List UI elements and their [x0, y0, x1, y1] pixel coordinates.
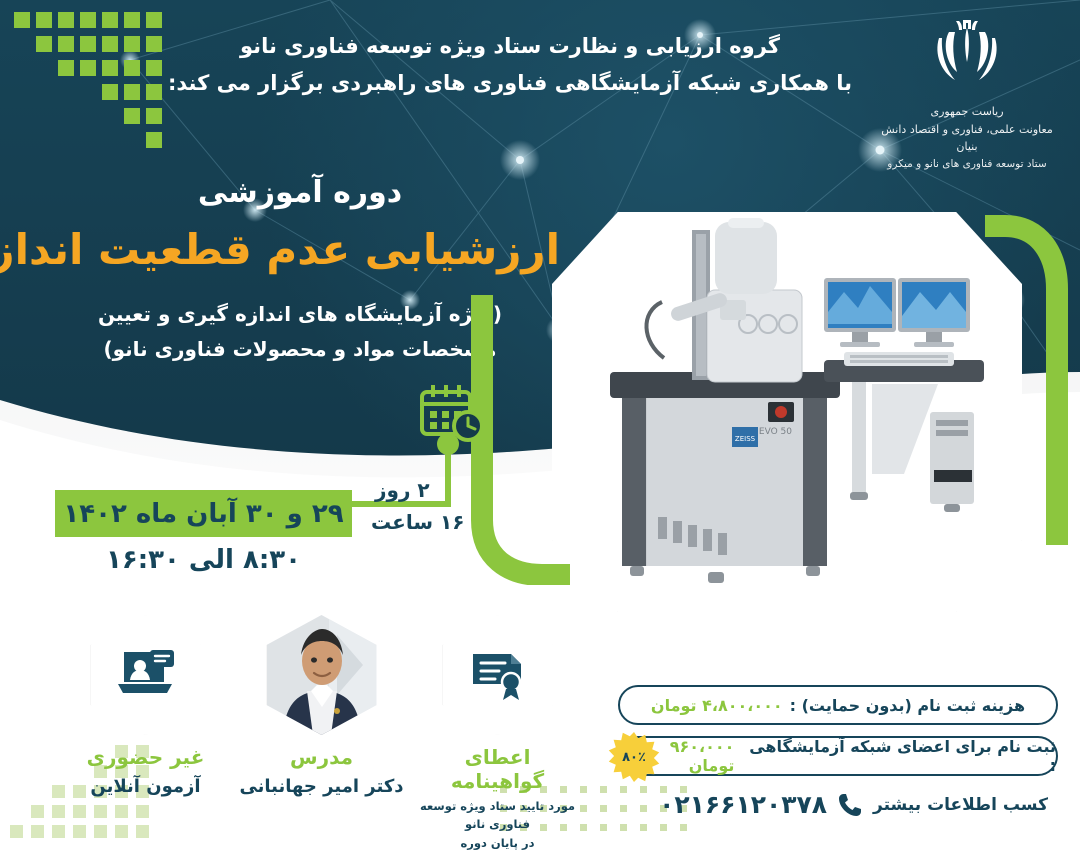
- feature-online: غیر حضوری آزمون آنلاین: [63, 615, 228, 800]
- discount-badge-text: ۸۰٪: [608, 731, 660, 783]
- feature-certificate-desc-1: مورد تایید ستاد ویژه توسعه فناوری نانو: [415, 797, 580, 834]
- price-row-standard[interactable]: هزینه ثبت نام (بدون حمایت) : ۴،۸۰۰،۰۰۰ ت…: [618, 685, 1058, 725]
- header-line-1: گروه ارزیابی و نظارت ستاد ویژه توسعه فنا…: [0, 28, 1020, 65]
- online-exam-hex: [91, 615, 201, 735]
- price-row-member[interactable]: ثبت نام برای اعضای شبکه آزمایشگاهی : ۹۶۰…: [618, 736, 1058, 776]
- svg-text:ZEISS: ZEISS: [735, 435, 756, 443]
- emblem-line-3: ستاد توسعه فناوری های نانو و میکرو: [872, 156, 1062, 173]
- contact-label: کسب اطلاعات بیشتر: [873, 795, 1048, 815]
- course-subtitle-line-1: (ویژه آزمایشگاه های اندازه گیری و تعیین: [40, 297, 560, 332]
- contact-row[interactable]: کسب اطلاعات بیشتر ۰۲۱۶۶۱۲۰۳۷۸: [659, 790, 1048, 819]
- feature-row: اعطای گواهینامه مورد تایید ستاد ویژه توس…: [60, 615, 580, 845]
- instructor-photo: [267, 615, 377, 735]
- price-label-standard: هزینه ثبت نام (بدون حمایت) :: [790, 696, 1025, 715]
- emblem-line-2: معاونت علمی، فناوری و اقتصاد دانش بنیان: [872, 121, 1062, 156]
- price-value-standard: ۴،۸۰۰،۰۰۰ تومان: [651, 696, 783, 715]
- duration-hours: ۱۶ ساعت: [371, 510, 464, 534]
- online-exam-icon: [116, 648, 176, 702]
- feature-certificate: اعطای گواهینامه مورد تایید ستاد ویژه توس…: [415, 615, 580, 852]
- feature-certificate-title: اعطای گواهینامه: [415, 745, 580, 793]
- contact-number: ۰۲۱۶۶۱۲۰۳۷۸: [659, 790, 827, 819]
- price-label-member: ثبت نام برای اعضای شبکه آزمایشگاهی :: [741, 737, 1056, 775]
- feature-certificate-desc-2: در پایان دوره: [415, 834, 580, 852]
- header-line-2: با همکاری شبکه آزمایشگاهی فناوری های راه…: [0, 65, 1020, 102]
- feature-instructor: مدرس دکتر امیر جهانبانی: [239, 615, 404, 800]
- emblem-line-1: ریاست جمهوری: [872, 104, 1062, 121]
- instructor-hex: [267, 615, 377, 735]
- feature-online-title: غیر حضوری: [63, 745, 228, 769]
- feature-online-desc-1: آزمون آنلاین: [63, 773, 228, 800]
- phone-icon: [837, 792, 863, 818]
- course-time: ۸:۳۰ الی ۱۶:۳۰: [55, 545, 352, 575]
- title-block: دوره آموزشی ارزشیابی عدم قطعیت اندازه گی…: [40, 175, 560, 367]
- course-kicker: دوره آموزشی: [40, 175, 560, 210]
- course-subtitle-line-2: مشخصات مواد و محصولات فناوری نانو): [40, 332, 560, 367]
- iran-emblem-icon: [919, 18, 1015, 98]
- feature-instructor-title: مدرس: [239, 745, 404, 769]
- course-date-badge: ۲۹ و ۳۰ آبان ماه ۱۴۰۲: [55, 490, 352, 537]
- svg-text:EVO 50: EVO 50: [759, 427, 792, 437]
- course-title: ارزشیابی عدم قطعیت اندازه گیری: [40, 224, 560, 277]
- sem-microscope-photo: ZEISS EVO 50: [552, 212, 1022, 612]
- organization-emblem: ریاست جمهوری معاونت علمی، فناوری و اقتصا…: [872, 18, 1062, 172]
- feature-instructor-desc-1: دکتر امیر جهانبانی: [239, 773, 404, 800]
- price-list: هزینه ثبت نام (بدون حمایت) : ۴،۸۰۰،۰۰۰ ت…: [618, 685, 1058, 787]
- certificate-hex: [443, 615, 553, 735]
- certificate-icon: [469, 648, 527, 702]
- duration-days: ۲ روز: [375, 478, 430, 502]
- discount-badge: ۸۰٪: [608, 731, 660, 783]
- poster-root: گروه ارزیابی و نظارت ستاد ویژه توسعه فنا…: [0, 0, 1080, 853]
